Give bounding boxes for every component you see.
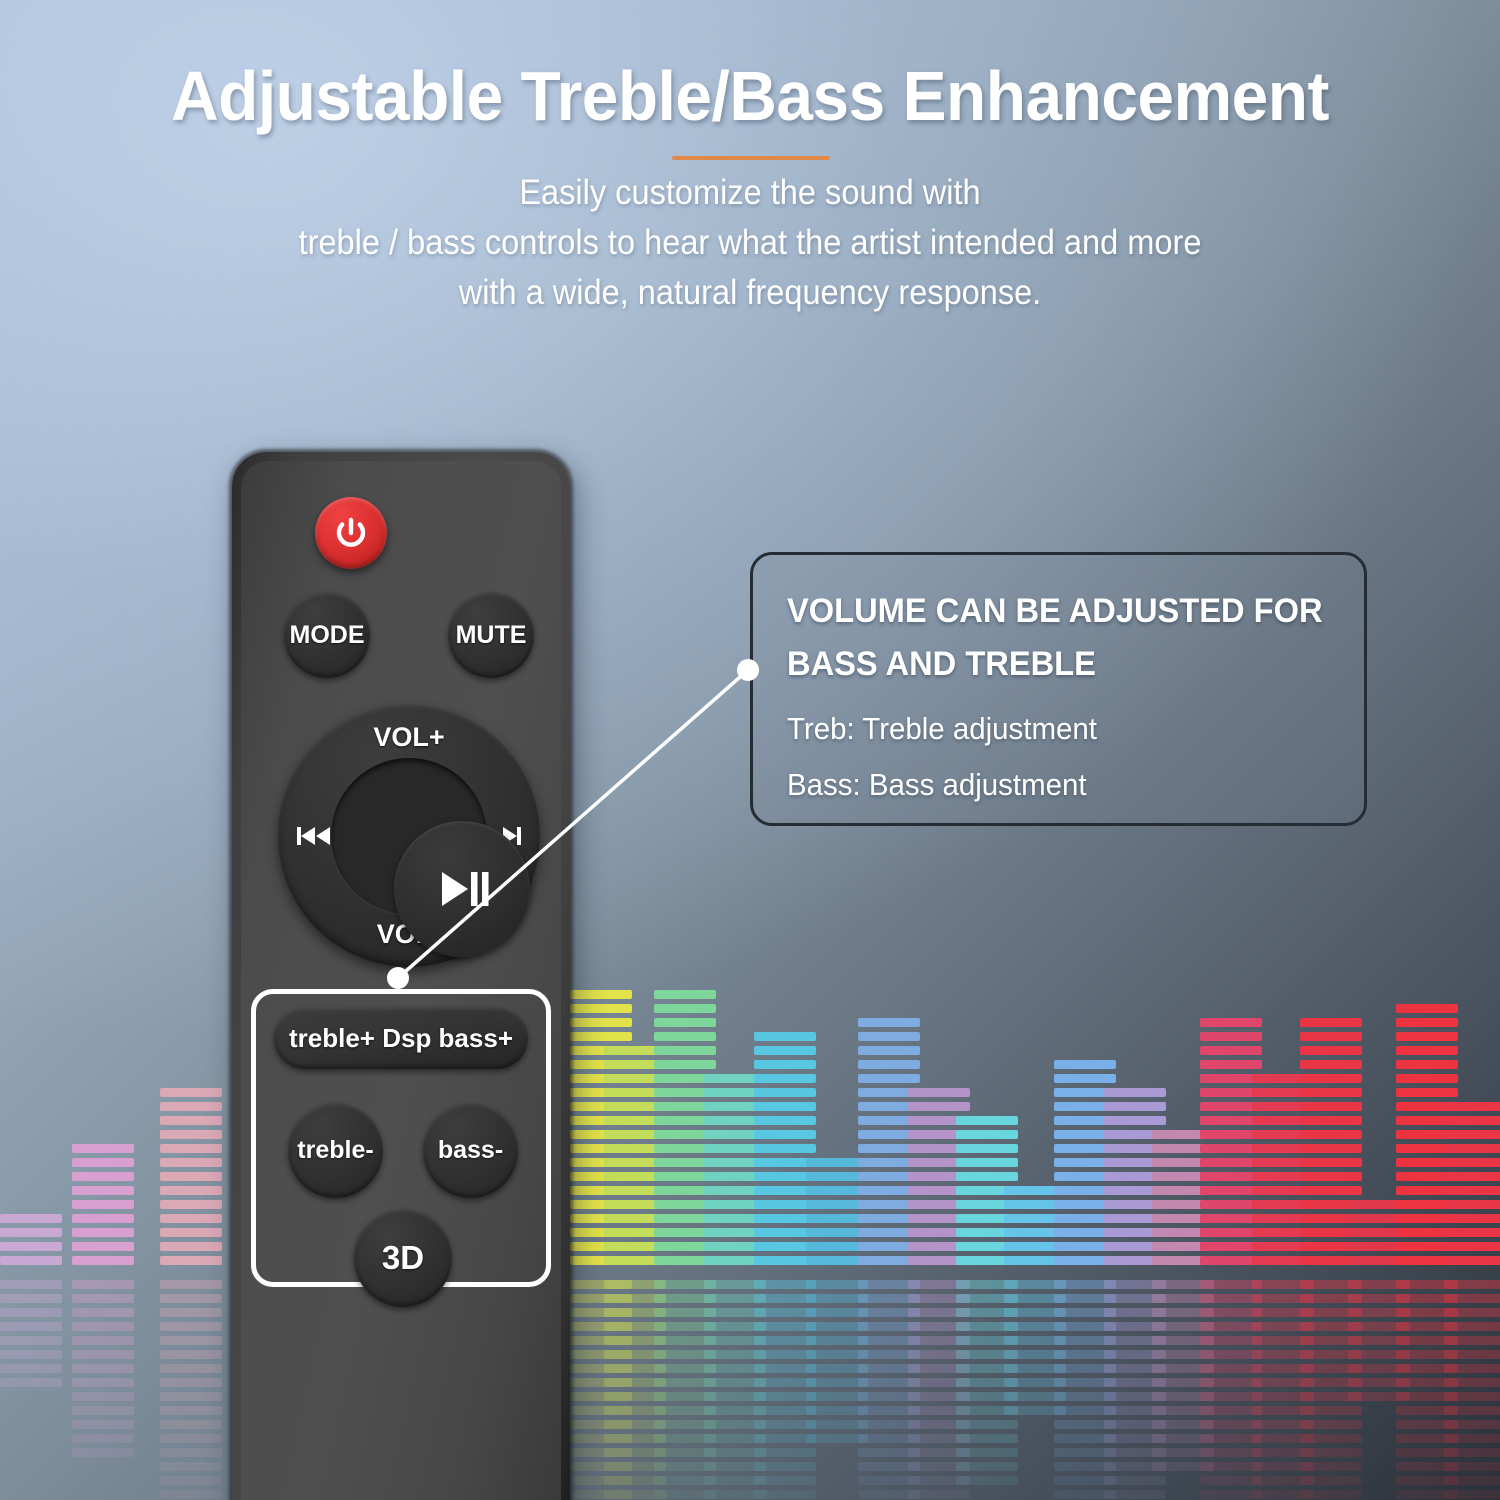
eq-segment-reflection bbox=[654, 1476, 716, 1485]
eq-segment-reflection bbox=[1444, 1462, 1500, 1471]
eq-segment bbox=[570, 1046, 632, 1055]
eq-segment-reflection bbox=[754, 1476, 816, 1485]
eq-segment bbox=[704, 1242, 766, 1251]
eq-segment-reflection bbox=[1444, 1350, 1500, 1359]
eq-segment-reflection bbox=[1054, 1392, 1116, 1401]
eq-segment-reflection bbox=[1004, 1336, 1066, 1345]
eq-segment-reflection bbox=[1300, 1434, 1362, 1443]
eq-segment-reflection bbox=[160, 1364, 222, 1373]
eq-segment bbox=[1252, 1102, 1314, 1111]
eq-segment-reflection bbox=[1004, 1308, 1066, 1317]
eq-segment bbox=[1054, 1172, 1116, 1181]
eq-segment-reflection bbox=[160, 1420, 222, 1429]
eq-segment-reflection bbox=[570, 1420, 632, 1429]
eq-segment-reflection bbox=[72, 1378, 134, 1387]
eq-segment bbox=[908, 1228, 970, 1237]
mute-button[interactable]: MUTE bbox=[448, 592, 534, 678]
eq-segment-reflection bbox=[1200, 1280, 1262, 1289]
eq-segment-reflection bbox=[72, 1420, 134, 1429]
eq-segment-reflection bbox=[908, 1308, 970, 1317]
eq-segment-reflection bbox=[956, 1336, 1018, 1345]
eq-segment bbox=[1200, 1214, 1262, 1223]
eq-segment bbox=[1252, 1088, 1314, 1097]
eq-segment bbox=[956, 1214, 1018, 1223]
eq-segment-reflection bbox=[72, 1294, 134, 1303]
eq-segment bbox=[1152, 1256, 1214, 1265]
eq-segment bbox=[704, 1116, 766, 1125]
eq-segment-reflection bbox=[858, 1462, 920, 1471]
eq-segment-reflection bbox=[956, 1420, 1018, 1429]
eq-segment bbox=[956, 1200, 1018, 1209]
eq-segment bbox=[1252, 1116, 1314, 1125]
eq-segment-reflection bbox=[956, 1448, 1018, 1457]
eq-segment bbox=[72, 1144, 134, 1153]
eq-segment bbox=[570, 1172, 632, 1181]
eq-segment bbox=[1152, 1144, 1214, 1153]
eq-segment bbox=[1300, 1130, 1362, 1139]
eq-segment bbox=[604, 1228, 666, 1237]
eq-segment-reflection bbox=[1004, 1294, 1066, 1303]
eq-segment-reflection bbox=[604, 1322, 666, 1331]
eq-segment bbox=[754, 1186, 816, 1195]
eq-segment-reflection bbox=[1300, 1308, 1362, 1317]
eq-segment-reflection bbox=[1200, 1322, 1262, 1331]
eq-segment-reflection bbox=[1252, 1476, 1314, 1485]
vol-up-button[interactable]: VOL+ bbox=[278, 722, 540, 753]
eq-segment bbox=[806, 1228, 868, 1237]
eq-segment bbox=[858, 1158, 920, 1167]
eq-segment bbox=[858, 1214, 920, 1223]
eq-segment bbox=[1104, 1186, 1166, 1195]
eq-segment-reflection bbox=[1104, 1420, 1166, 1429]
eq-segment-reflection bbox=[1348, 1364, 1410, 1373]
eq-segment-reflection bbox=[1252, 1462, 1314, 1471]
eq-segment bbox=[604, 1186, 666, 1195]
eq-segment bbox=[654, 1060, 716, 1069]
eq-segment bbox=[570, 1186, 632, 1195]
eq-segment-reflection bbox=[806, 1336, 868, 1345]
eq-segment-reflection bbox=[654, 1406, 716, 1415]
eq-segment-reflection bbox=[1300, 1462, 1362, 1471]
eq-segment bbox=[754, 1088, 816, 1097]
eq-segment bbox=[1200, 1102, 1262, 1111]
eq-segment bbox=[1004, 1186, 1066, 1195]
eq-segment bbox=[654, 1018, 716, 1027]
eq-segment-reflection bbox=[858, 1350, 920, 1359]
eq-segment bbox=[570, 1200, 632, 1209]
eq-segment-reflection bbox=[1252, 1336, 1314, 1345]
eq-segment bbox=[908, 1158, 970, 1167]
eq-segment-reflection bbox=[704, 1364, 766, 1373]
eq-segment-reflection bbox=[654, 1462, 716, 1471]
eq-segment-reflection bbox=[1152, 1420, 1214, 1429]
eq-segment bbox=[908, 1172, 970, 1181]
eq-segment-reflection bbox=[160, 1308, 222, 1317]
eq-segment-reflection bbox=[1054, 1280, 1116, 1289]
eq-segment-reflection bbox=[858, 1322, 920, 1331]
eq-segment-reflection bbox=[1252, 1280, 1314, 1289]
eq-segment-reflection bbox=[1348, 1308, 1410, 1317]
eq-segment bbox=[1300, 1228, 1362, 1237]
eq-segment bbox=[754, 1074, 816, 1083]
eq-segment-reflection bbox=[1200, 1336, 1262, 1345]
eq-segment-reflection bbox=[1104, 1406, 1166, 1415]
eq-segment bbox=[160, 1200, 222, 1209]
eq-segment bbox=[1300, 1032, 1362, 1041]
eq-segment-reflection bbox=[806, 1406, 868, 1415]
eq-segment-reflection bbox=[1444, 1294, 1500, 1303]
eq-segment-reflection bbox=[1252, 1448, 1314, 1457]
eq-segment bbox=[1054, 1242, 1116, 1251]
eq-segment-reflection bbox=[1396, 1308, 1458, 1317]
eq-segment-reflection bbox=[604, 1462, 666, 1471]
eq-segment bbox=[1396, 1158, 1458, 1167]
eq-segment bbox=[1104, 1228, 1166, 1237]
eq-segment-reflection bbox=[160, 1406, 222, 1415]
eq-segment bbox=[806, 1186, 868, 1195]
eq-segment bbox=[1252, 1172, 1314, 1181]
eq-segment bbox=[72, 1242, 134, 1251]
eq-segment bbox=[570, 1060, 632, 1069]
eq-segment-reflection bbox=[1444, 1392, 1500, 1401]
eq-segment-reflection bbox=[1348, 1322, 1410, 1331]
eq-segment-reflection bbox=[570, 1294, 632, 1303]
eq-segment-reflection bbox=[1396, 1322, 1458, 1331]
eq-segment-reflection bbox=[604, 1448, 666, 1457]
eq-column bbox=[1444, 0, 1500, 1500]
eq-segment bbox=[570, 1074, 632, 1083]
eq-segment-reflection bbox=[160, 1392, 222, 1401]
eq-segment bbox=[908, 1214, 970, 1223]
dsp-treble-bass-plus-button[interactable]: treble+ Dsp bass+ bbox=[274, 1007, 528, 1069]
eq-segment bbox=[1300, 1242, 1362, 1251]
eq-segment-reflection bbox=[570, 1476, 632, 1485]
eq-segment bbox=[1396, 1186, 1458, 1195]
eq-segment-reflection bbox=[1104, 1392, 1166, 1401]
eq-segment-reflection bbox=[704, 1420, 766, 1429]
eq-segment-reflection bbox=[754, 1308, 816, 1317]
eq-segment-reflection bbox=[754, 1364, 816, 1373]
eq-segment bbox=[1300, 1200, 1362, 1209]
eq-segment-reflection bbox=[1252, 1350, 1314, 1359]
eq-segment bbox=[604, 1102, 666, 1111]
eq-segment bbox=[160, 1116, 222, 1125]
eq-segment bbox=[160, 1186, 222, 1195]
eq-segment bbox=[1348, 1242, 1410, 1251]
eq-segment-reflection bbox=[0, 1308, 62, 1317]
eq-segment bbox=[160, 1214, 222, 1223]
eq-segment bbox=[1300, 1102, 1362, 1111]
eq-segment-reflection bbox=[1300, 1448, 1362, 1457]
eq-segment-reflection bbox=[1300, 1364, 1362, 1373]
eq-segment-reflection bbox=[704, 1448, 766, 1457]
eq-segment-reflection bbox=[1200, 1490, 1262, 1499]
eq-segment-reflection bbox=[160, 1434, 222, 1443]
eq-segment bbox=[1200, 1158, 1262, 1167]
power-icon bbox=[331, 513, 371, 553]
eq-segment bbox=[1396, 1228, 1458, 1237]
eq-segment bbox=[1300, 1172, 1362, 1181]
eq-segment bbox=[604, 1088, 666, 1097]
eq-segment bbox=[1348, 1200, 1410, 1209]
eq-segment bbox=[1104, 1200, 1166, 1209]
eq-segment bbox=[858, 1228, 920, 1237]
eq-segment-reflection bbox=[1300, 1420, 1362, 1429]
eq-segment-reflection bbox=[908, 1280, 970, 1289]
eq-segment bbox=[704, 1158, 766, 1167]
eq-segment-reflection bbox=[1444, 1280, 1500, 1289]
eq-segment-reflection bbox=[858, 1336, 920, 1345]
eq-segment bbox=[1054, 1256, 1116, 1265]
eq-segment bbox=[604, 1158, 666, 1167]
eq-segment-reflection bbox=[754, 1322, 816, 1331]
eq-segment bbox=[956, 1116, 1018, 1125]
eq-segment bbox=[1004, 1228, 1066, 1237]
eq-segment bbox=[1444, 1214, 1500, 1223]
eq-segment-reflection bbox=[1200, 1294, 1262, 1303]
eq-segment bbox=[956, 1172, 1018, 1181]
eq-segment bbox=[1444, 1116, 1500, 1125]
eq-segment-reflection bbox=[570, 1378, 632, 1387]
power-button[interactable] bbox=[315, 497, 387, 569]
eq-segment bbox=[1396, 1018, 1458, 1027]
eq-segment-reflection bbox=[1396, 1420, 1458, 1429]
bass-minus-button[interactable]: bass- bbox=[423, 1103, 518, 1198]
eq-segment bbox=[754, 1032, 816, 1041]
eq-segment-reflection bbox=[704, 1392, 766, 1401]
eq-segment bbox=[754, 1256, 816, 1265]
eq-segment bbox=[1444, 1102, 1500, 1111]
eq-segment bbox=[1252, 1242, 1314, 1251]
dpad-inner-ring bbox=[331, 758, 487, 914]
eq-segment-reflection bbox=[806, 1350, 868, 1359]
eq-segment bbox=[160, 1228, 222, 1237]
callout-box: VOLUME CAN BE ADJUSTED FOR BASS AND TREB… bbox=[750, 552, 1367, 826]
eq-segment-reflection bbox=[754, 1490, 816, 1499]
eq-segment-reflection bbox=[160, 1462, 222, 1471]
eq-segment bbox=[908, 1102, 970, 1111]
eq-segment bbox=[754, 1228, 816, 1237]
eq-segment bbox=[956, 1228, 1018, 1237]
eq-segment-reflection bbox=[908, 1322, 970, 1331]
eq-segment bbox=[1396, 1256, 1458, 1265]
eq-segment bbox=[956, 1144, 1018, 1153]
eq-segment bbox=[754, 1060, 816, 1069]
eq-segment-reflection bbox=[1152, 1322, 1214, 1331]
eq-segment-reflection bbox=[72, 1322, 134, 1331]
eq-segment bbox=[806, 1214, 868, 1223]
eq-segment-reflection bbox=[1444, 1406, 1500, 1415]
eq-segment-reflection bbox=[0, 1322, 62, 1331]
eq-segment bbox=[754, 1242, 816, 1251]
eq-segment-reflection bbox=[1348, 1336, 1410, 1345]
eq-segment bbox=[1104, 1172, 1166, 1181]
eq-segment bbox=[654, 1172, 716, 1181]
eq-segment-reflection bbox=[1152, 1308, 1214, 1317]
eq-segment-reflection bbox=[1104, 1378, 1166, 1387]
eq-segment-reflection bbox=[1054, 1308, 1116, 1317]
eq-segment-reflection bbox=[654, 1322, 716, 1331]
eq-segment bbox=[1396, 1046, 1458, 1055]
eq-segment bbox=[1152, 1158, 1214, 1167]
eq-segment-reflection bbox=[806, 1280, 868, 1289]
eq-segment-reflection bbox=[1252, 1364, 1314, 1373]
eq-segment bbox=[1054, 1060, 1116, 1069]
eq-segment-reflection bbox=[1104, 1476, 1166, 1485]
eq-segment bbox=[1252, 1144, 1314, 1153]
eq-segment bbox=[1396, 1214, 1458, 1223]
eq-segment-reflection bbox=[1104, 1364, 1166, 1373]
eq-segment bbox=[754, 1200, 816, 1209]
eq-segment-reflection bbox=[806, 1294, 868, 1303]
eq-segment-reflection bbox=[654, 1448, 716, 1457]
eq-segment bbox=[754, 1158, 816, 1167]
eq-segment-reflection bbox=[1444, 1434, 1500, 1443]
eq-segment bbox=[1054, 1214, 1116, 1223]
eq-segment bbox=[858, 1116, 920, 1125]
mode-button[interactable]: MODE bbox=[284, 592, 370, 678]
page-title: Adjustable Treble/Bass Enhancement bbox=[45, 0, 1455, 136]
eq-segment-reflection bbox=[1348, 1378, 1410, 1387]
eq-segment bbox=[704, 1074, 766, 1083]
eq-segment bbox=[654, 1102, 716, 1111]
eq-segment bbox=[1152, 1214, 1214, 1223]
eq-segment bbox=[160, 1130, 222, 1139]
eq-segment bbox=[1300, 1046, 1362, 1055]
eq-segment bbox=[806, 1172, 868, 1181]
eq-segment-reflection bbox=[1396, 1364, 1458, 1373]
eq-segment bbox=[1444, 1172, 1500, 1181]
eq-segment-reflection bbox=[72, 1392, 134, 1401]
eq-segment bbox=[654, 1200, 716, 1209]
eq-segment-reflection bbox=[654, 1350, 716, 1359]
eq-segment-reflection bbox=[1396, 1350, 1458, 1359]
eq-segment bbox=[1444, 1186, 1500, 1195]
eq-segment bbox=[858, 1172, 920, 1181]
eq-segment bbox=[1200, 1256, 1262, 1265]
eq-segment-reflection bbox=[1200, 1462, 1262, 1471]
eq-segment-reflection bbox=[1152, 1294, 1214, 1303]
eq-segment-reflection bbox=[704, 1280, 766, 1289]
eq-segment-reflection bbox=[1396, 1490, 1458, 1499]
eq-segment bbox=[1054, 1088, 1116, 1097]
eq-segment-reflection bbox=[704, 1434, 766, 1443]
eq-segment bbox=[160, 1144, 222, 1153]
eq-segment-reflection bbox=[1152, 1462, 1214, 1471]
eq-segment bbox=[654, 1004, 716, 1013]
eq-segment-reflection bbox=[908, 1462, 970, 1471]
eq-segment bbox=[1200, 1172, 1262, 1181]
eq-segment-reflection bbox=[858, 1308, 920, 1317]
eq-segment-reflection bbox=[654, 1294, 716, 1303]
three-d-button[interactable]: 3D bbox=[354, 1209, 452, 1307]
eq-segment-reflection bbox=[1300, 1490, 1362, 1499]
eq-segment bbox=[858, 1200, 920, 1209]
eq-segment-reflection bbox=[654, 1364, 716, 1373]
eq-segment-reflection bbox=[72, 1406, 134, 1415]
eq-segment bbox=[1252, 1256, 1314, 1265]
eq-segment bbox=[1054, 1200, 1116, 1209]
eq-segment-reflection bbox=[754, 1294, 816, 1303]
eq-segment bbox=[1152, 1172, 1214, 1181]
eq-segment-reflection bbox=[1348, 1392, 1410, 1401]
eq-segment-reflection bbox=[1054, 1336, 1116, 1345]
eq-segment bbox=[956, 1256, 1018, 1265]
eq-segment-reflection bbox=[858, 1378, 920, 1387]
eq-segment bbox=[1054, 1158, 1116, 1167]
eq-segment bbox=[1300, 1158, 1362, 1167]
eq-segment bbox=[72, 1256, 134, 1265]
eq-segment bbox=[654, 990, 716, 999]
play-pause-button[interactable] bbox=[394, 821, 530, 957]
eq-segment bbox=[1104, 1102, 1166, 1111]
previous-track-button[interactable] bbox=[296, 824, 334, 848]
eq-segment bbox=[1300, 1060, 1362, 1069]
eq-segment bbox=[1300, 1088, 1362, 1097]
eq-segment-reflection bbox=[1444, 1420, 1500, 1429]
eq-segment-reflection bbox=[754, 1406, 816, 1415]
treble-minus-button[interactable]: treble- bbox=[288, 1103, 383, 1198]
eq-segment-reflection bbox=[956, 1462, 1018, 1471]
eq-segment-reflection bbox=[1200, 1448, 1262, 1457]
eq-segment-reflection bbox=[570, 1406, 632, 1415]
eq-segment bbox=[858, 1074, 920, 1083]
callout-body-line-2: Bass: Bass adjustment bbox=[787, 757, 1303, 813]
eq-segment bbox=[1200, 1074, 1262, 1083]
eq-segment-reflection bbox=[858, 1280, 920, 1289]
eq-segment bbox=[654, 1130, 716, 1139]
eq-segment bbox=[908, 1242, 970, 1251]
eq-segment-reflection bbox=[570, 1448, 632, 1457]
eq-segment bbox=[1200, 1116, 1262, 1125]
eq-segment bbox=[570, 1144, 632, 1153]
volume-dpad[interactable]: VOL+ VOL- bbox=[278, 705, 540, 967]
eq-segment-reflection bbox=[654, 1336, 716, 1345]
eq-segment-reflection bbox=[570, 1308, 632, 1317]
eq-segment-reflection bbox=[1054, 1322, 1116, 1331]
eq-segment bbox=[956, 1158, 1018, 1167]
eq-segment bbox=[1200, 1060, 1262, 1069]
eq-segment bbox=[858, 1018, 920, 1027]
eq-segment bbox=[806, 1256, 868, 1265]
eq-segment-reflection bbox=[654, 1434, 716, 1443]
eq-segment-reflection bbox=[1252, 1392, 1314, 1401]
callout-body-line-1: Treb: Treble adjustment bbox=[787, 701, 1303, 757]
eq-segment-reflection bbox=[704, 1322, 766, 1331]
eq-segment bbox=[1104, 1158, 1166, 1167]
eq-segment-reflection bbox=[754, 1336, 816, 1345]
callout-heading: VOLUME CAN BE ADJUSTED FOR BASS AND TREB… bbox=[787, 585, 1308, 691]
eq-segment bbox=[1444, 1242, 1500, 1251]
eq-segment bbox=[908, 1088, 970, 1097]
eq-segment bbox=[1396, 1144, 1458, 1153]
eq-segment bbox=[72, 1172, 134, 1181]
eq-segment-reflection bbox=[1300, 1378, 1362, 1387]
eq-segment bbox=[1054, 1102, 1116, 1111]
eq-segment-reflection bbox=[858, 1448, 920, 1457]
eq-segment bbox=[570, 1018, 632, 1027]
eq-segment-reflection bbox=[1200, 1378, 1262, 1387]
eq-segment-reflection bbox=[1200, 1420, 1262, 1429]
eq-segment-reflection bbox=[604, 1406, 666, 1415]
eq-segment-reflection bbox=[858, 1392, 920, 1401]
eq-segment bbox=[908, 1144, 970, 1153]
eq-segment-reflection bbox=[1004, 1378, 1066, 1387]
eq-segment-reflection bbox=[1200, 1308, 1262, 1317]
eq-segment-reflection bbox=[908, 1294, 970, 1303]
eq-segment-reflection bbox=[704, 1476, 766, 1485]
eq-segment-reflection bbox=[806, 1420, 868, 1429]
